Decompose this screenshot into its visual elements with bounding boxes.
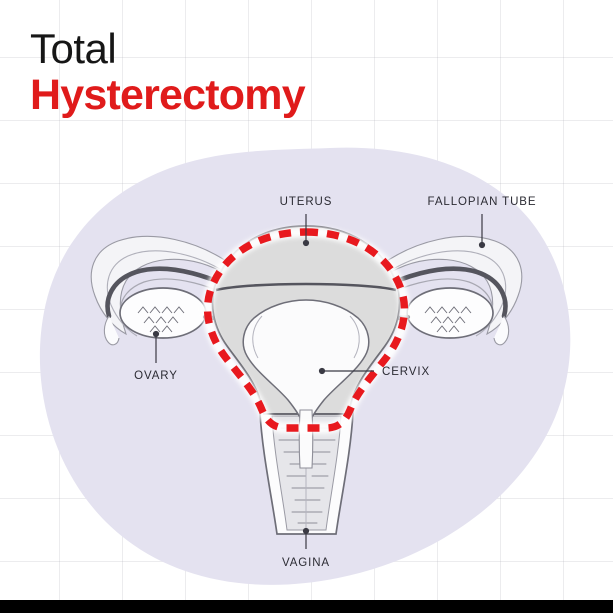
cervical-canal xyxy=(299,410,313,468)
leader-dot-uterus xyxy=(303,240,309,246)
bottom-letterbox-bar xyxy=(0,600,613,613)
title-line-hysterectomy: Hysterectomy xyxy=(30,74,305,117)
label-text-ovary: OVARY xyxy=(134,370,178,382)
hysterectomy-infographic: UTERUS FALLOPIAN TUBE OVARY CERVIX VAGIN… xyxy=(0,0,613,613)
label-text-cervix: CERVIX xyxy=(382,366,430,378)
page-title: Total Hysterectomy xyxy=(30,28,305,117)
label-text-fallopian-tube: FALLOPIAN TUBE xyxy=(428,196,537,208)
leader-dot-ovary xyxy=(153,331,159,337)
label-text-uterus: UTERUS xyxy=(280,196,333,208)
title-line-total: Total xyxy=(30,28,305,70)
label-text-vagina: VAGINA xyxy=(282,557,330,569)
leader-dot-vagina xyxy=(303,528,309,534)
leader-dot-fallopian-tube xyxy=(479,242,485,248)
leader-dot-cervix xyxy=(319,368,325,374)
